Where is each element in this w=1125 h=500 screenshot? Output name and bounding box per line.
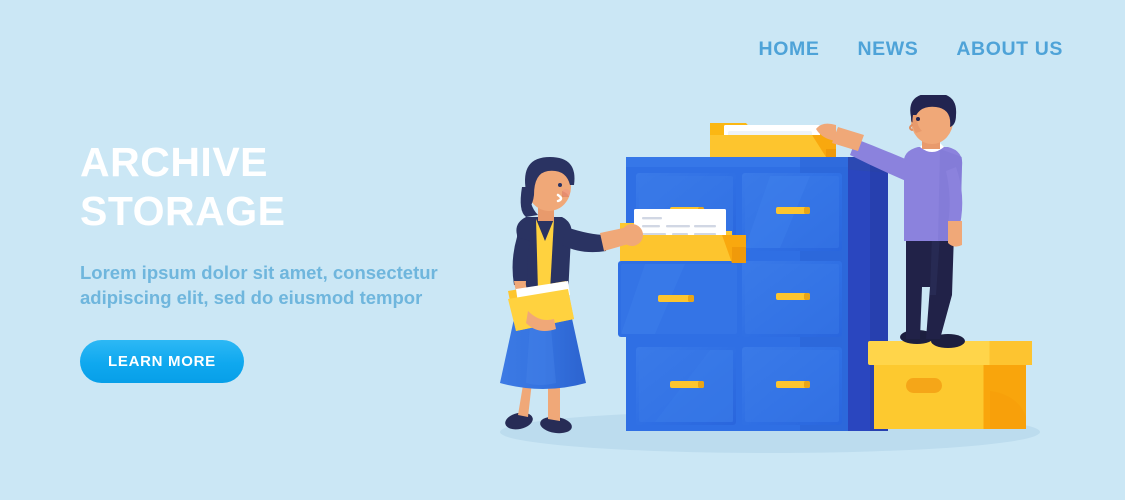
archive-box <box>868 341 1032 429</box>
man-trousers <box>906 233 954 339</box>
nav-link-home[interactable]: HOME <box>759 38 820 61</box>
cabinet-drawer-bottom-left[interactable] <box>636 347 736 425</box>
main-navigation: HOME NEWS ABOUT US <box>759 38 1063 61</box>
hero-section: ARCHIVE STORAGE Lorem ipsum dolor sit am… <box>80 138 500 383</box>
cabinet-drawer-open[interactable] <box>618 261 740 337</box>
landing-page: HOME NEWS ABOUT US ARCHIVE STORAGE Lorem… <box>0 0 1125 500</box>
cabinet-drawer-top-right[interactable] <box>742 173 842 251</box>
archive-storage-illustration <box>470 95 1080 465</box>
page-title-line-1: ARCHIVE <box>80 139 268 185</box>
page-title: ARCHIVE STORAGE <box>80 138 500 236</box>
hero-subtitle: Lorem ipsum dolor sit amet, consectetur … <box>80 260 450 310</box>
archive-box-handle <box>906 378 942 393</box>
nav-link-about-us[interactable]: ABOUT US <box>956 38 1063 61</box>
learn-more-button[interactable]: LEARN MORE <box>80 340 244 383</box>
cabinet-drawer-bottom-right[interactable] <box>742 347 842 425</box>
page-title-line-2: STORAGE <box>80 188 286 234</box>
nav-link-news[interactable]: NEWS <box>857 38 918 61</box>
cabinet-drawer-mid-right[interactable] <box>742 261 842 337</box>
